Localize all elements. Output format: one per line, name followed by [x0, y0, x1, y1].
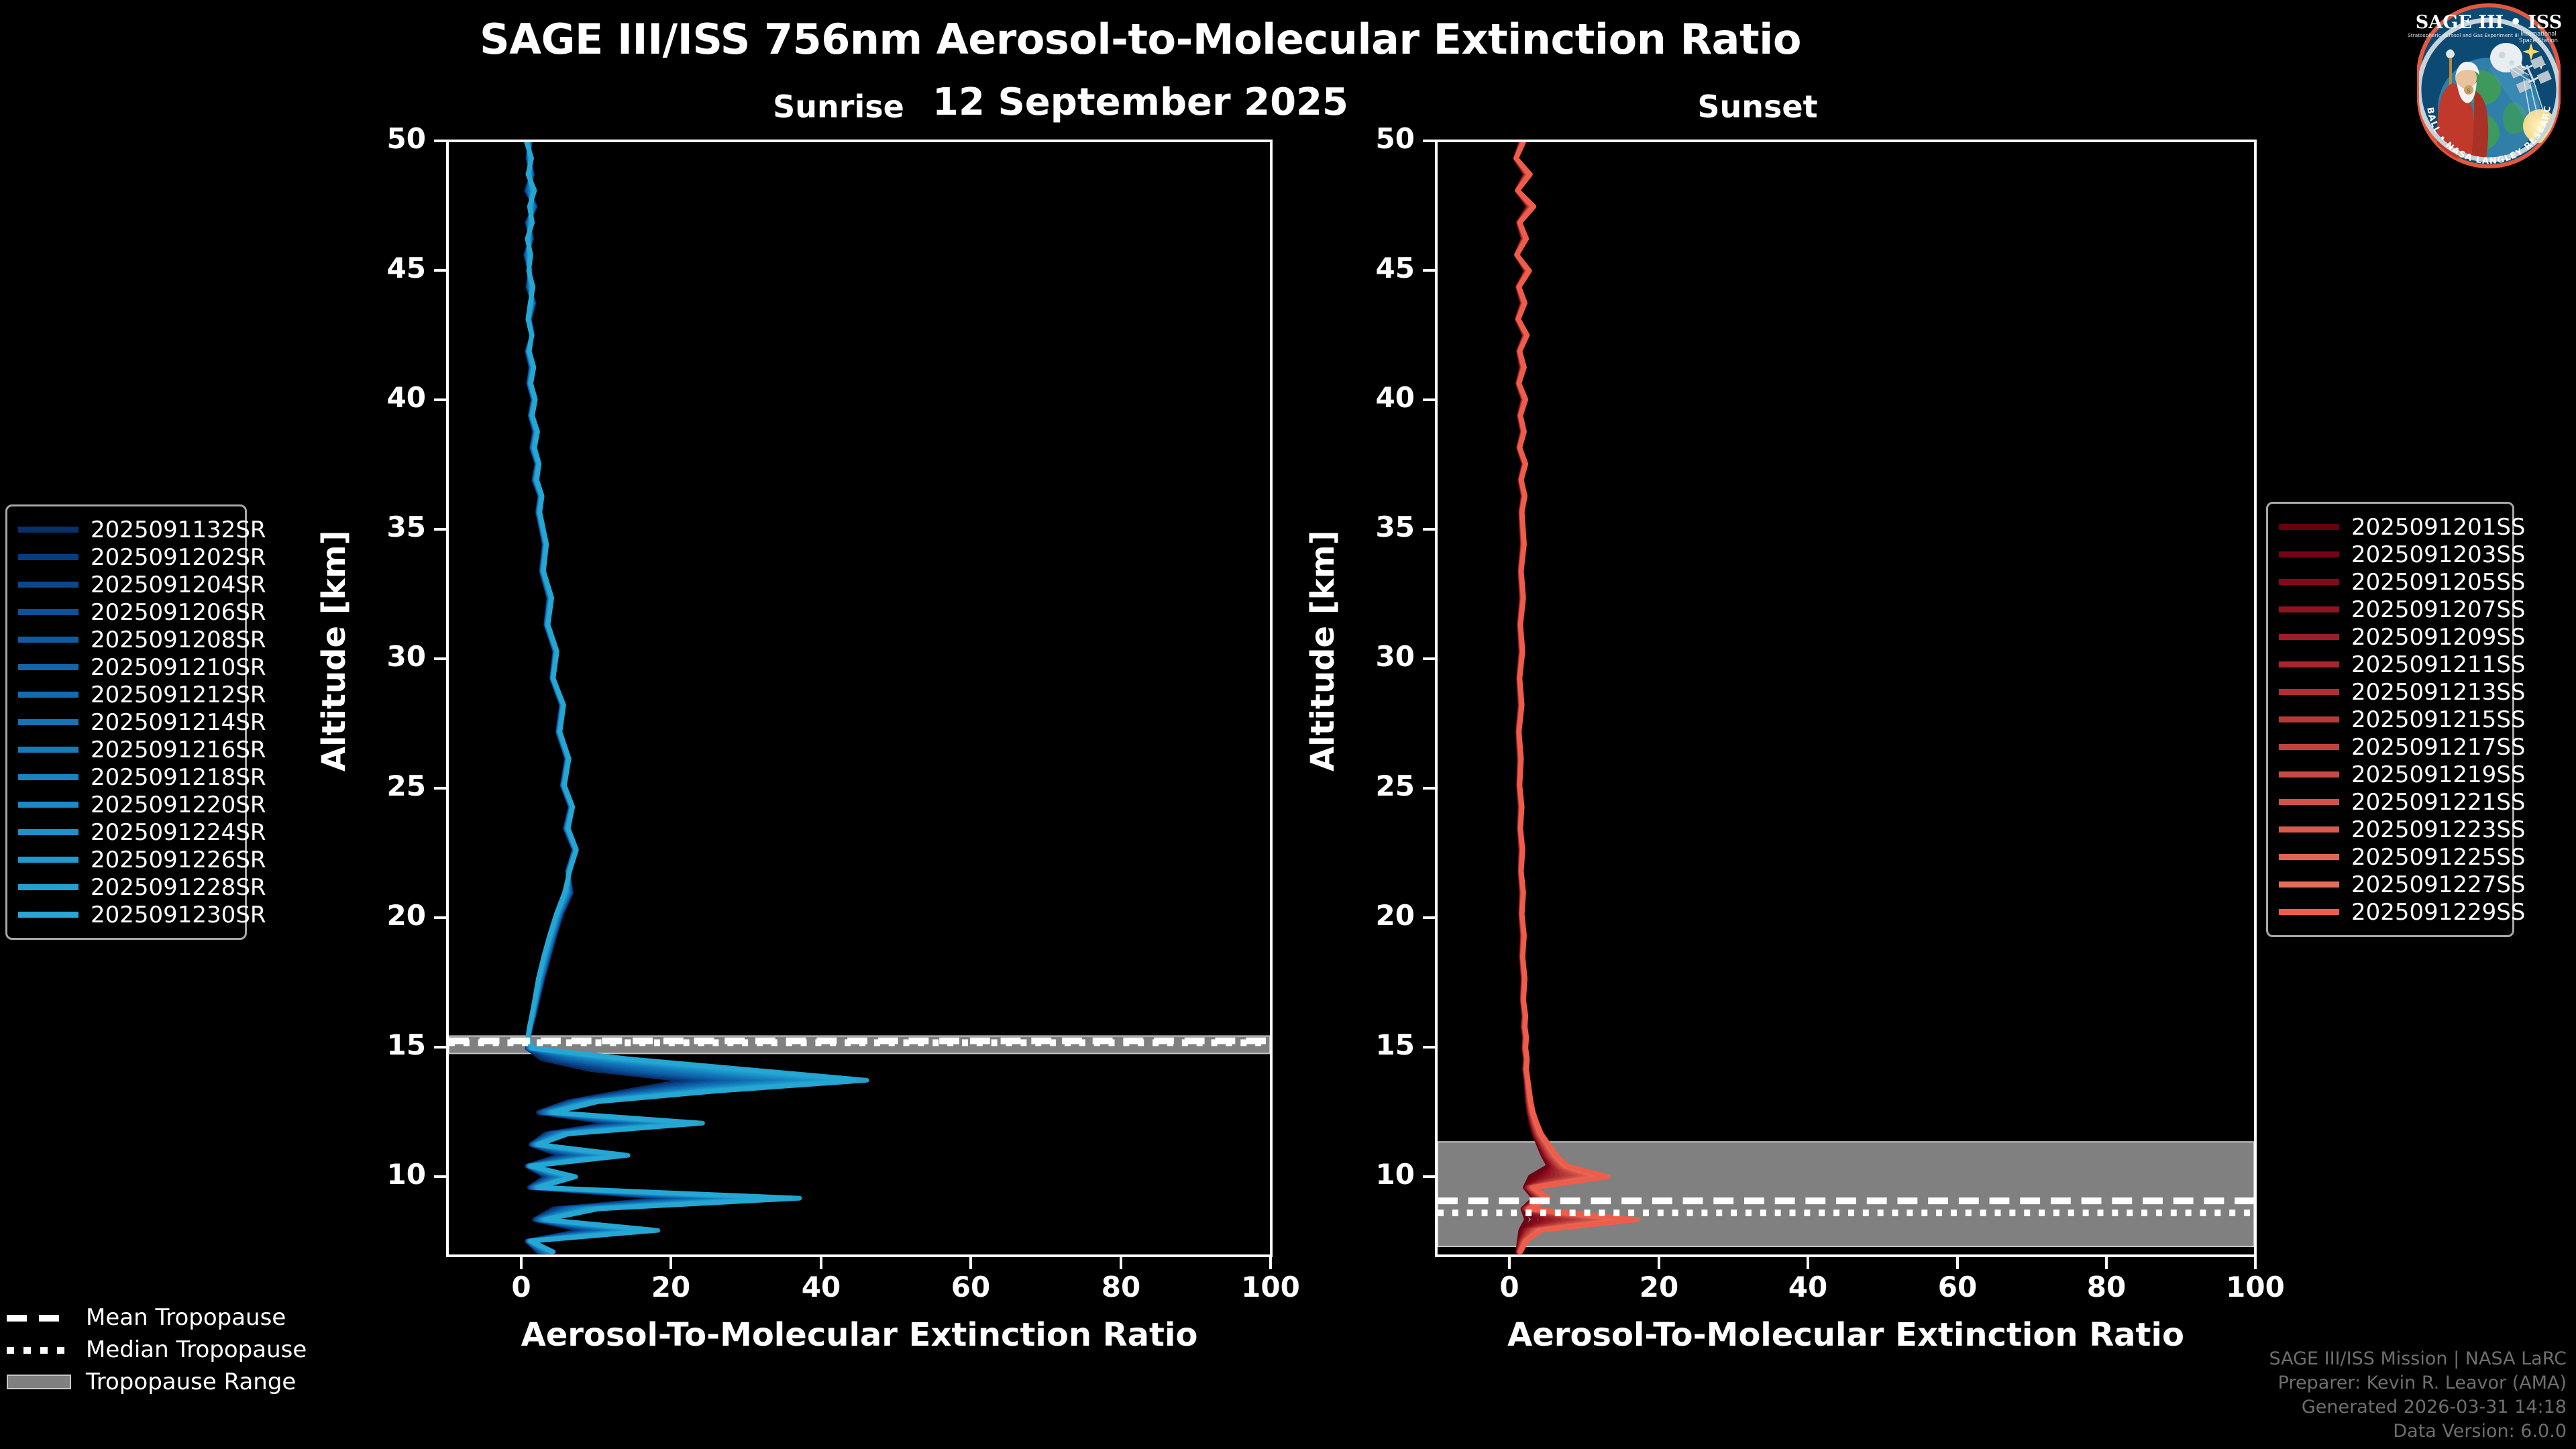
xtick-mark	[820, 1257, 822, 1269]
legend-color-swatch	[2279, 909, 2339, 915]
credits-line-generated: Generated 2026-03-31 14:18	[2269, 1395, 2567, 1419]
legend-color-swatch	[18, 774, 78, 780]
legend-color-swatch	[18, 554, 78, 560]
credits-block: SAGE III/ISS Mission | NASA LaRC Prepare…	[2269, 1347, 2567, 1444]
logo-subtitle-left: Stratospheric Aerosol and Gas Experiment…	[2408, 32, 2519, 38]
ytick-mark	[434, 528, 446, 531]
legend-item-median-tropopause: Median Tropopause	[7, 1334, 382, 1366]
legend-label: 2025091201SS	[2351, 514, 2525, 541]
legend-color-swatch	[18, 829, 78, 835]
legend-color-swatch	[18, 582, 78, 588]
legend-item[interactable]: 2025091221SS	[2279, 788, 2502, 816]
legend-label: 2025091215SS	[2351, 706, 2525, 733]
legend-label: 2025091212SR	[91, 682, 266, 708]
xtick-20: 20	[617, 1273, 724, 1301]
xtick-mark	[969, 1257, 972, 1269]
legend-label: 2025091221SS	[2351, 789, 2525, 816]
ytick-mark	[1423, 1046, 1435, 1049]
xtick-mark	[1269, 1257, 1272, 1269]
legend-label: 2025091230SR	[91, 902, 266, 928]
legend-item[interactable]: 2025091201SS	[2279, 513, 2502, 541]
xtick-0: 0	[1456, 1273, 1563, 1301]
ytick-15: 15	[1334, 1031, 1415, 1059]
ytick-10: 10	[345, 1161, 426, 1189]
legend-color-swatch	[2279, 579, 2339, 585]
ytick-30: 30	[345, 643, 426, 671]
logo-subtitle-right-2: Space Station	[2519, 37, 2558, 44]
legend-label: 2025091206SR	[91, 599, 266, 626]
legend-item[interactable]: 2025091219SS	[2279, 761, 2502, 788]
legend-label: 2025091214SR	[91, 709, 266, 736]
legend-label: 2025091224SR	[91, 819, 266, 846]
xtick-mark	[1807, 1257, 1809, 1269]
mission-patch-icon: S SAGE III • ISS Stratospheric Aerosol a…	[2404, 1, 2572, 169]
legend-label-tropopause-range: Tropopause Range	[86, 1368, 296, 1395]
ytick-mark	[434, 916, 446, 919]
legend-label: 2025091217SS	[2351, 734, 2525, 761]
legend-item[interactable]: 2025091204SR	[18, 571, 234, 598]
ytick-35: 35	[345, 513, 426, 541]
ytick-mark	[1423, 1175, 1435, 1178]
sunset-plot-area[interactable]	[1435, 140, 2257, 1257]
legend-color-swatch	[18, 884, 78, 890]
svg-text:S: S	[2467, 88, 2470, 94]
ytick-mark	[1423, 140, 1435, 142]
legend-item-tropopause-range: Tropopause Range	[7, 1366, 382, 1398]
dotted-line-icon	[7, 1342, 71, 1357]
legend-item[interactable]: 2025091205SS	[2279, 568, 2502, 596]
ytick-mark	[434, 140, 446, 142]
legend-item[interactable]: 2025091227SS	[2279, 871, 2502, 898]
legend-color-swatch	[18, 719, 78, 725]
xtick-mark	[520, 1257, 523, 1269]
sunset-y-axis-title: Altitude [km]	[1304, 530, 1342, 771]
legend-label-median-tropopause: Median Tropopause	[86, 1336, 307, 1363]
ytick-mark	[434, 269, 446, 272]
legend-color-swatch	[2279, 716, 2339, 722]
legend-color-swatch	[2279, 606, 2339, 612]
legend-label: 2025091229SS	[2351, 899, 2525, 926]
credits-line-version: Data Version: 6.0.0	[2269, 1419, 2567, 1444]
legend-item[interactable]: 2025091207SS	[2279, 596, 2502, 623]
xtick-mark	[1658, 1257, 1660, 1269]
legend-item[interactable]: 2025091229SS	[2279, 898, 2502, 926]
xtick-mark	[2105, 1257, 2108, 1269]
legend-label: 2025091211SS	[2351, 651, 2525, 678]
dashed-line-icon	[7, 1310, 71, 1325]
legend-color-swatch	[18, 609, 78, 615]
ytick-20: 20	[345, 902, 426, 930]
legend-label: 2025091210SR	[91, 654, 266, 681]
legend-label: 2025091205SS	[2351, 569, 2525, 596]
ytick-50: 50	[1334, 125, 1415, 153]
credits-line-mission: SAGE III/ISS Mission | NASA LaRC	[2269, 1347, 2567, 1371]
sunrise-plot-svg	[449, 142, 1270, 1254]
xtick-100: 100	[1217, 1273, 1324, 1301]
logo-subtitle-right-1: International	[2520, 30, 2556, 37]
ytick-mark	[1423, 269, 1435, 272]
legend-item[interactable]: 2025091228SR	[18, 873, 234, 901]
legend-item[interactable]: 2025091213SS	[2279, 678, 2502, 706]
legend-label: 2025091213SS	[2351, 679, 2525, 706]
xtick-40: 40	[1754, 1273, 1862, 1301]
credits-line-preparer: Preparer: Kevin R. Leavor (AMA)	[2269, 1371, 2567, 1395]
legend-color-swatch	[18, 637, 78, 643]
sunrise-y-axis-title: Altitude [km]	[315, 530, 353, 771]
legend-label: 2025091204SR	[91, 572, 266, 598]
ytick-mark	[434, 787, 446, 790]
legend-item[interactable]: 2025091217SS	[2279, 733, 2502, 761]
legend-label: 2025091226SR	[91, 847, 266, 873]
sunrise-panel-label: Sunrise	[691, 89, 986, 125]
xtick-60: 60	[1904, 1273, 2011, 1301]
legend-item[interactable]: 2025091223SS	[2279, 816, 2502, 843]
legend-label: 2025091225SS	[2351, 844, 2525, 871]
legend-color-swatch	[18, 747, 78, 753]
ytick-mark	[434, 657, 446, 660]
legend-label: 2025091203SS	[2351, 541, 2525, 568]
sunset-plot-svg	[1438, 142, 2254, 1254]
xtick-mark	[1120, 1257, 1122, 1269]
legend-color-swatch	[2279, 524, 2339, 530]
ytick-40: 40	[1334, 384, 1415, 412]
legend-item[interactable]: 2025091208SR	[18, 626, 234, 653]
legend-color-swatch	[2279, 854, 2339, 860]
legend-label-mean-tropopause: Mean Tropopause	[86, 1304, 286, 1331]
legend-label: 2025091227SS	[2351, 871, 2525, 898]
ytick-25: 25	[1334, 772, 1415, 800]
legend-label: 2025091208SR	[91, 627, 266, 653]
legend-label: 2025091220SR	[91, 792, 266, 818]
ytick-30: 30	[1334, 643, 1415, 671]
sunrise-plot-area[interactable]	[446, 140, 1273, 1257]
ytick-mark	[1423, 398, 1435, 401]
ytick-mark	[1423, 787, 1435, 790]
xtick-0: 0	[468, 1273, 575, 1301]
page-title: SAGE III/ISS 756nm Aerosol-to-Molecular …	[0, 15, 2281, 64]
ytick-45: 45	[345, 254, 426, 282]
xtick-mark	[1956, 1257, 1959, 1269]
legend-item[interactable]: 2025091215SS	[2279, 706, 2502, 733]
xtick-80: 80	[1067, 1273, 1175, 1301]
legend-color-swatch	[18, 664, 78, 670]
ytick-10: 10	[1334, 1161, 1415, 1189]
xtick-mark	[669, 1257, 672, 1269]
legend-item[interactable]: 2025091211SS	[2279, 651, 2502, 678]
ytick-mark	[434, 1175, 446, 1178]
sunrise-legend[interactable]: 2025091132SR2025091202SR2025091204SR2025…	[5, 504, 247, 940]
legend-item[interactable]: 2025091132SR	[18, 516, 234, 543]
sunset-legend[interactable]: 2025091201SS2025091203SS2025091205SS2025…	[2266, 502, 2514, 937]
band-swatch-icon	[7, 1375, 71, 1389]
legend-item[interactable]: 2025091212SR	[18, 681, 234, 708]
ytick-40: 40	[345, 384, 426, 412]
ytick-50: 50	[345, 125, 426, 153]
sunset-panel-label: Sunset	[1610, 89, 1905, 125]
legend-color-swatch	[18, 692, 78, 698]
ytick-mark	[434, 1046, 446, 1049]
sunset-x-axis-title: Aerosol-To-Molecular Extinction Ratio	[1435, 1316, 2257, 1354]
sunrise-x-axis-title: Aerosol-To-Molecular Extinction Ratio	[446, 1316, 1273, 1354]
legend-item[interactable]: 2025091216SR	[18, 736, 234, 763]
ytick-mark	[1423, 916, 1435, 919]
legend-color-swatch	[2279, 689, 2339, 695]
legend-item[interactable]: 2025091203SS	[2279, 541, 2502, 568]
legend-item[interactable]: 2025091225SS	[2279, 843, 2502, 871]
legend-color-swatch	[2279, 881, 2339, 888]
legend-color-swatch	[18, 802, 78, 808]
legend-color-swatch	[2279, 771, 2339, 777]
legend-label: 2025091228SR	[91, 874, 266, 901]
xtick-60: 60	[917, 1273, 1024, 1301]
legend-item[interactable]: 2025091209SS	[2279, 623, 2502, 651]
profile-line	[1516, 142, 1638, 1252]
legend-color-swatch	[2279, 661, 2339, 667]
ytick-45: 45	[1334, 254, 1415, 282]
legend-color-swatch	[2279, 634, 2339, 640]
ytick-15: 15	[345, 1031, 426, 1059]
ytick-mark	[1423, 528, 1435, 531]
legend-item[interactable]: 2025091224SR	[18, 818, 234, 846]
legend-item[interactable]: 2025091220SR	[18, 791, 234, 818]
legend-label: 2025091216SR	[91, 737, 266, 763]
legend-item[interactable]: 2025091202SR	[18, 543, 234, 571]
ytick-25: 25	[345, 772, 426, 800]
legend-label: 2025091207SS	[2351, 596, 2525, 623]
tropopause-legend: Mean Tropopause Median Tropopause Tropop…	[7, 1301, 382, 1398]
profile-line	[1516, 142, 1630, 1252]
legend-item[interactable]: 2025091210SR	[18, 653, 234, 681]
legend-label: 2025091223SS	[2351, 816, 2525, 843]
legend-item[interactable]: 2025091206SR	[18, 598, 234, 626]
xtick-80: 80	[2053, 1273, 2160, 1301]
xtick-20: 20	[1605, 1273, 1713, 1301]
legend-label: 2025091218SR	[91, 764, 266, 791]
legend-label: 2025091209SS	[2351, 624, 2525, 651]
legend-color-swatch	[18, 912, 78, 918]
xtick-mark	[1508, 1257, 1511, 1269]
legend-item[interactable]: 2025091218SR	[18, 763, 234, 791]
xtick-100: 100	[2202, 1273, 2309, 1301]
xtick-mark	[2254, 1257, 2257, 1269]
legend-label: 2025091132SR	[91, 517, 266, 543]
legend-color-swatch	[18, 527, 78, 533]
legend-color-swatch	[2279, 826, 2339, 833]
legend-label: 2025091202SR	[91, 544, 266, 571]
sage-iii-iss-logo: S SAGE III • ISS Stratospheric Aerosol a…	[2404, 1, 2572, 169]
date-subtitle: 12 September 2025	[0, 80, 2281, 124]
legend-item[interactable]: 2025091214SR	[18, 708, 234, 736]
legend-item[interactable]: 2025091230SR	[18, 901, 234, 928]
ytick-20: 20	[1334, 902, 1415, 930]
profile-line	[1516, 142, 1622, 1252]
legend-color-swatch	[2279, 744, 2339, 750]
ytick-mark	[434, 398, 446, 401]
legend-color-swatch	[2279, 799, 2339, 805]
ytick-35: 35	[1334, 513, 1415, 541]
legend-item-mean-tropopause: Mean Tropopause	[7, 1301, 382, 1334]
ytick-mark	[1423, 657, 1435, 660]
xtick-40: 40	[767, 1273, 875, 1301]
legend-color-swatch	[18, 857, 78, 863]
legend-label: 2025091219SS	[2351, 761, 2525, 788]
legend-color-swatch	[2279, 551, 2339, 557]
legend-item[interactable]: 2025091226SR	[18, 846, 234, 873]
